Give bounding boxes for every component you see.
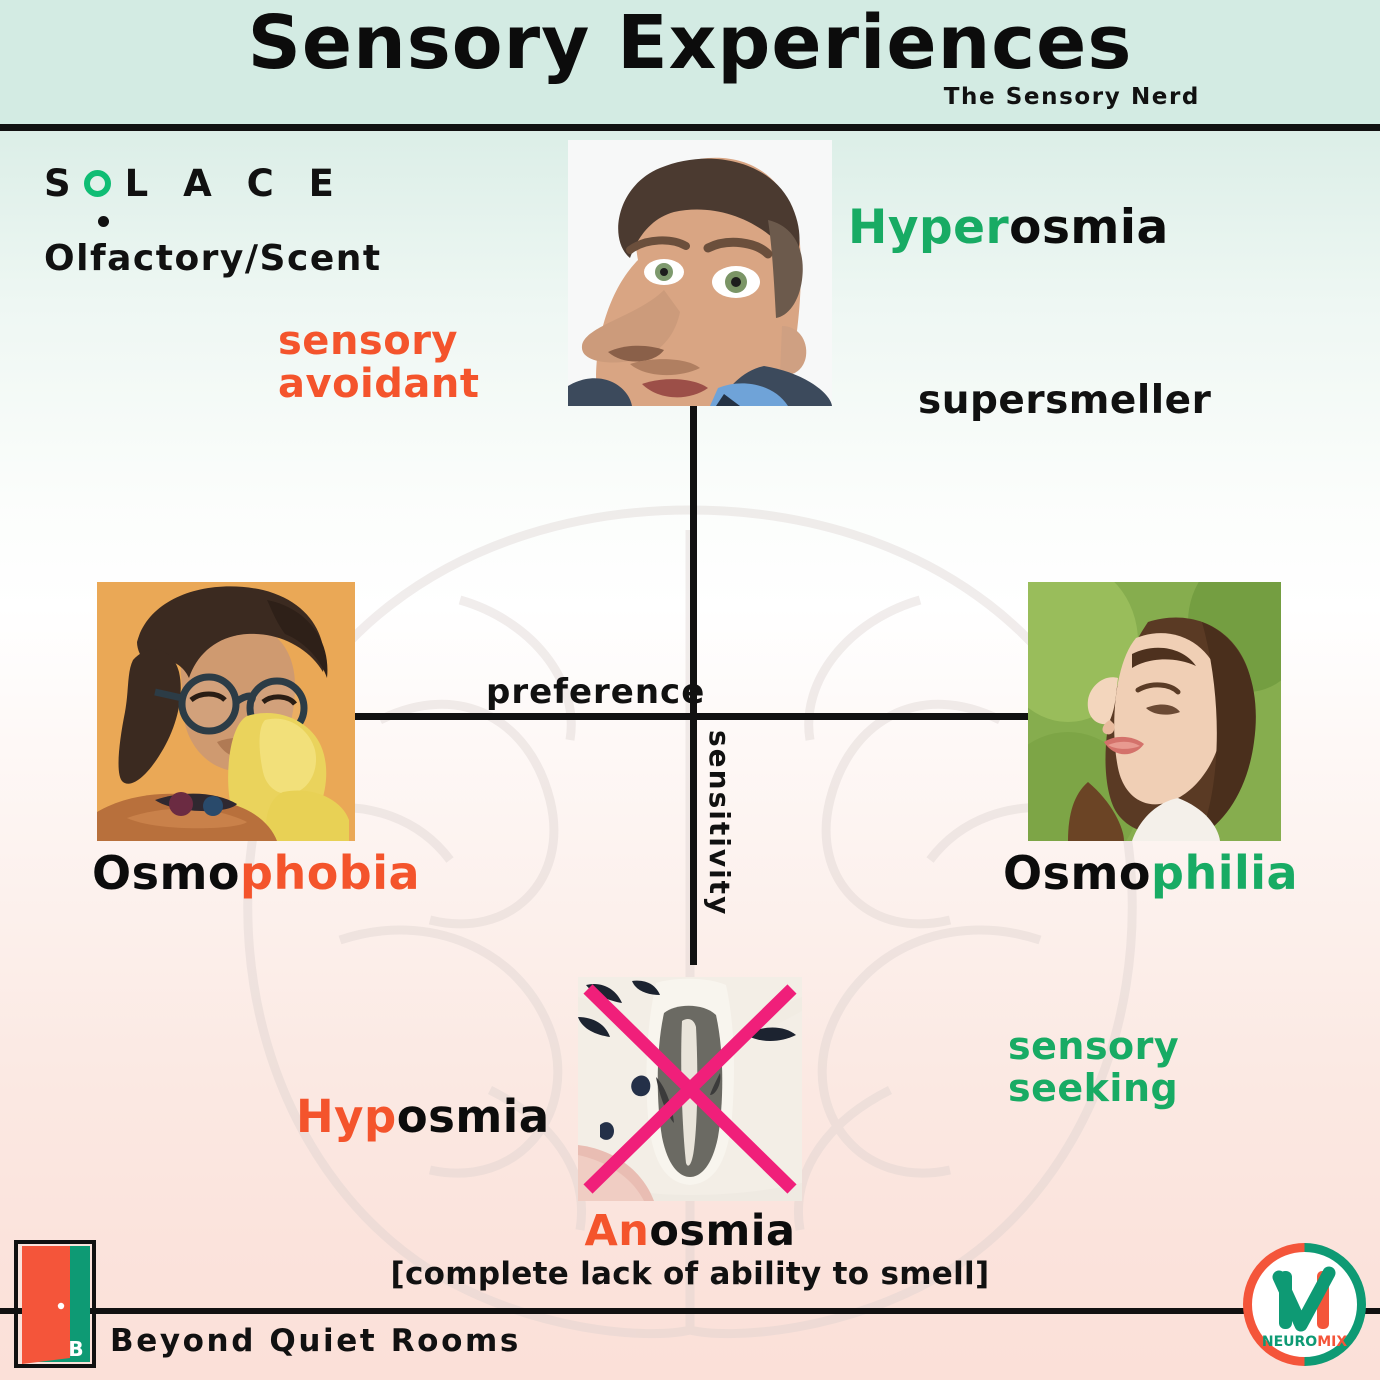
supersmeller-label: supersmeller bbox=[918, 378, 1211, 423]
osmophobia-suffix: phobia bbox=[240, 846, 420, 900]
hyperosmia-photo bbox=[568, 140, 832, 406]
sensitivity-axis-label: sensitivity bbox=[703, 730, 736, 916]
header-divider bbox=[0, 124, 1380, 131]
hyperosmia-suffix: osmia bbox=[1009, 200, 1169, 255]
sensory-seeking-label: sensory seeking bbox=[1008, 1026, 1179, 1110]
sensory-avoidant-line1: sensory bbox=[278, 320, 479, 363]
sensory-seeking-line1: sensory bbox=[1008, 1026, 1179, 1068]
solace-sense-label: Olfactory/Scent bbox=[44, 238, 382, 279]
solace-letter-s: S bbox=[44, 162, 82, 205]
page-title: Sensory Experiences bbox=[0, 6, 1380, 81]
osmophobia-photo bbox=[97, 582, 355, 841]
sensory-seeking-line2: seeking bbox=[1008, 1068, 1179, 1110]
sensory-avoidant-label: sensory avoidant bbox=[278, 320, 479, 406]
hyperosmia-prefix: Hyper bbox=[848, 200, 1009, 255]
anosmia-label: Anosmia bbox=[0, 1206, 1380, 1256]
anosmia-photo bbox=[578, 977, 802, 1201]
brand-name: Beyond Quiet Rooms bbox=[110, 1323, 521, 1359]
anosmia-prefix: An bbox=[584, 1206, 649, 1256]
hyposmia-suffix: osmia bbox=[397, 1090, 550, 1143]
osmophobia-label: Osmophobia bbox=[92, 846, 420, 900]
page-subtitle: The Sensory Nerd bbox=[944, 84, 1200, 110]
osmophilia-label: Osmophilia bbox=[1003, 846, 1298, 900]
neuromix-logo-icon: NEUROMIX bbox=[1243, 1243, 1366, 1366]
door-logo-letter: B bbox=[68, 1337, 83, 1361]
solace-marker-dot-icon bbox=[98, 216, 109, 227]
anosmia-definition: [complete lack of ability to smell] bbox=[0, 1256, 1380, 1292]
hyposmia-prefix: Hyp bbox=[296, 1090, 397, 1143]
sensory-avoidant-line2: avoidant bbox=[278, 363, 479, 406]
olfactory-ring-icon bbox=[84, 170, 111, 197]
hyperosmia-label: Hyperosmia bbox=[848, 200, 1169, 255]
preference-axis-label: preference bbox=[486, 672, 705, 712]
osmophilia-photo bbox=[1028, 582, 1281, 841]
osmophilia-suffix: philia bbox=[1151, 846, 1298, 900]
infographic-poster: Sensory Experiences The Sensory Nerd S L… bbox=[0, 0, 1380, 1380]
solace-block: S L A C E Olfactory/Scent bbox=[44, 160, 345, 206]
osmophobia-prefix: Osmo bbox=[92, 846, 240, 900]
svg-text:NEUROMIX: NEUROMIX bbox=[1262, 1334, 1347, 1350]
osmophilia-prefix: Osmo bbox=[1003, 846, 1151, 900]
anosmia-suffix: osmia bbox=[649, 1206, 795, 1256]
neuromix-text-green: NEURO bbox=[1262, 1334, 1317, 1350]
neuromix-text-orange: MIX bbox=[1317, 1334, 1347, 1350]
solace-letters-lace: L A C E bbox=[125, 162, 345, 205]
footer-divider bbox=[0, 1308, 1380, 1314]
solace-acronym: S L A C E bbox=[44, 160, 345, 206]
door-logo-icon: B bbox=[14, 1240, 96, 1368]
hyposmia-label: Hyposmia bbox=[296, 1090, 550, 1143]
